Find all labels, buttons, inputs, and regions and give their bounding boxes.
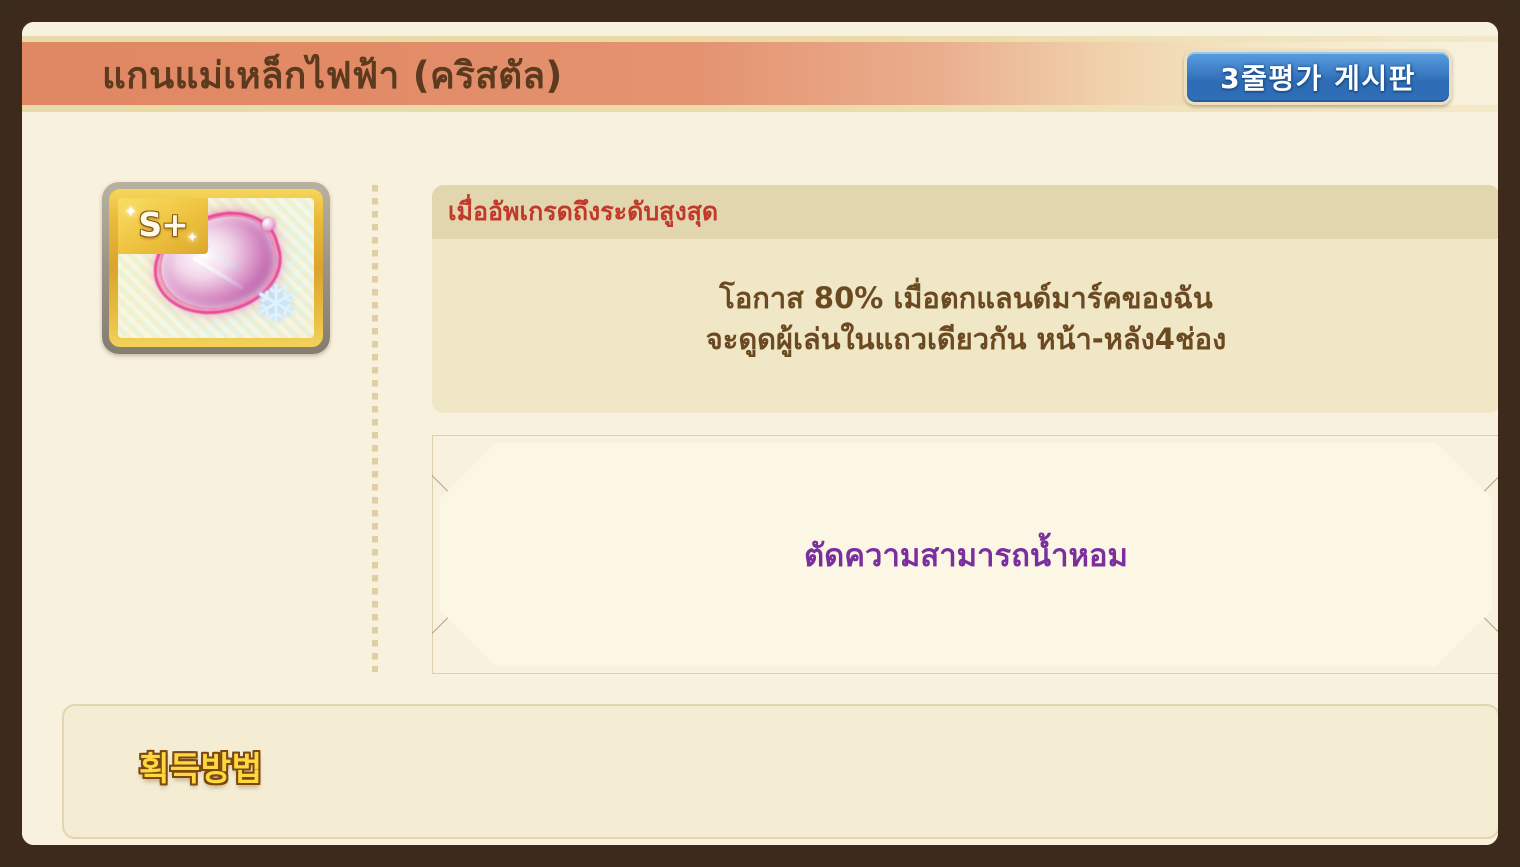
item-icon-gold-frame: ❄ S+ ✦ ✦ (109, 189, 323, 347)
max-upgrade-effect-panel: เมื่ออัพเกรดถึงระดับสูงสุด โอกาส 80% เมื… (432, 185, 1500, 413)
review-board-button[interactable]: 3줄평가 게시판 (1184, 49, 1452, 105)
rank-badge: S+ ✦ ✦ (118, 198, 208, 254)
item-icon[interactable]: ❄ S+ ✦ ✦ (102, 182, 330, 354)
note-panel: ตัดความสามารถน้ำหอม (432, 435, 1500, 674)
effect-description-line: จะดูดผู้เล่นในแถวเดียวกัน หน้า-หลัง4ช่อง (706, 319, 1227, 360)
acquisition-method-title: 획득방법 (139, 742, 262, 790)
page-title: แกนแม่เหล็กไฟฟ้า (คริสตัล) (102, 44, 563, 107)
vertical-dotted-divider (372, 185, 378, 672)
item-detail-screen: แกนแม่เหล็กไฟฟ้า (คริสตัล) 3줄평가 게시판 ❄ (0, 0, 1520, 867)
crystal-knob-icon (262, 218, 275, 231)
rank-badge-label: S+ (138, 205, 187, 244)
note-panel-inner: ตัดความสามารถน้ำหอม (440, 443, 1492, 666)
review-board-button-label: 3줄평가 게시판 (1220, 57, 1416, 97)
effect-panel-body: โอกาส 80% เมื่อตกแลนด์มาร์คของฉัน จะดูดผ… (432, 239, 1500, 413)
effect-description-line: โอกาส 80% เมื่อตกแลนด์มาร์คของฉัน (719, 278, 1212, 319)
item-artwork: ❄ S+ ✦ ✦ (118, 198, 314, 338)
sparkle-icon: ✦ (186, 230, 198, 246)
snowflake-icon: ❄ (250, 279, 302, 331)
content-surface: แกนแม่เหล็กไฟฟ้า (คริสตัล) 3줄평가 게시판 ❄ (22, 22, 1498, 845)
sparkle-icon: ✦ (124, 202, 137, 221)
acquisition-method-panel: 획득방법 (62, 704, 1500, 839)
note-text: ตัดความสามารถน้ำหอม (804, 530, 1128, 580)
effect-panel-header: เมื่ออัพเกรดถึงระดับสูงสุด (432, 185, 1500, 239)
window-frame: แกนแม่เหล็กไฟฟ้า (คริสตัล) 3줄평가 게시판 ❄ (0, 0, 1520, 867)
effect-panel-header-label: เมื่ออัพเกรดถึงระดับสูงสุด (448, 192, 718, 232)
